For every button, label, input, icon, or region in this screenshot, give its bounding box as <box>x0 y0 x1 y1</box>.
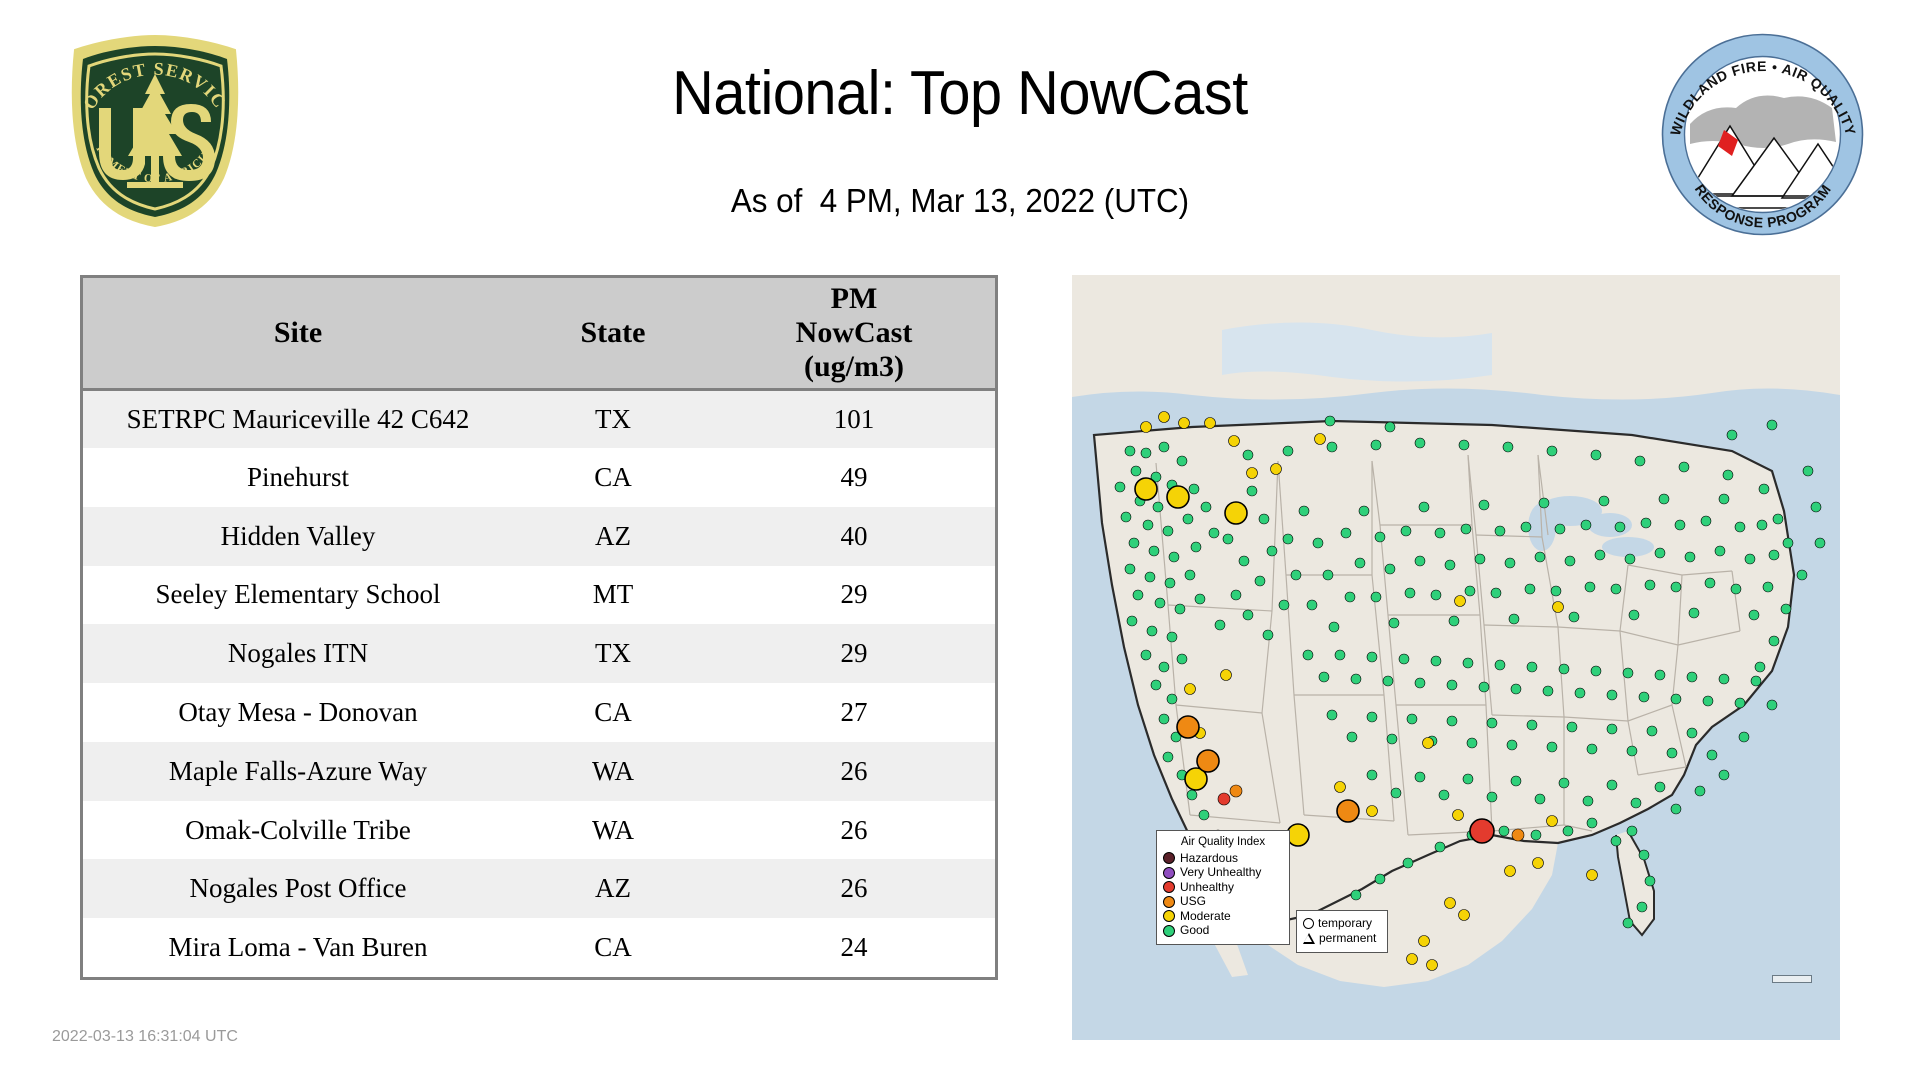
wildland-fire-air-quality-icon: WILDLAND FIRE • AIR QUALITY RESPONSE PRO… <box>1660 32 1865 237</box>
table-cell-state: CA <box>513 448 713 507</box>
aqi-swatch-icon <box>1163 910 1175 922</box>
table-row: Hidden ValleyAZ40 <box>83 507 995 566</box>
slide-root: FOREST SERVICE DEPARTMENT OF AGRICULTURE <box>0 0 1920 1080</box>
table-row: Maple Falls-Azure WayWA26 <box>83 742 995 801</box>
aqi-legend-row: Moderate <box>1163 909 1283 924</box>
table-cell-site: Nogales ITN <box>83 624 513 683</box>
column-header-line1: PM <box>831 282 878 315</box>
aqi-legend-label: Unhealthy <box>1180 881 1234 894</box>
temporary-monitor-icon <box>1303 918 1314 929</box>
table-row: Otay Mesa - DonovanCA27 <box>83 683 995 742</box>
table-cell-value: 26 <box>713 742 995 801</box>
table-cell-site: Nogales Post Office <box>83 859 513 918</box>
page-title: National: Top NowCast <box>346 58 1574 129</box>
aqi-swatch-icon <box>1163 896 1175 908</box>
aqi-legend-label: USG <box>1180 895 1206 908</box>
aqi-legend: Air Quality Index HazardousVery Unhealth… <box>1156 830 1290 945</box>
table-row: Nogales ITNTX29 <box>83 624 995 683</box>
monitor-type-legend: temporary permanent <box>1296 910 1388 953</box>
table-row: SETRPC Mauriceville 42 C642TX101 <box>83 389 995 448</box>
aqi-legend-row: Very Unhealthy <box>1163 866 1283 881</box>
map-scale-bar <box>1772 975 1812 983</box>
aqi-legend-row: Good <box>1163 924 1283 939</box>
aqi-swatch-icon <box>1163 852 1175 864</box>
aqi-legend-row: Hazardous <box>1163 851 1283 866</box>
table-cell-value: 29 <box>713 624 995 683</box>
table-cell-site: Pinehurst <box>83 448 513 507</box>
column-header-site: Site <box>83 278 513 389</box>
column-header-state: State <box>513 278 713 389</box>
legend-row-temporary: temporary <box>1303 916 1382 931</box>
legend-row-permanent: permanent <box>1303 931 1382 946</box>
table-cell-state: WA <box>513 801 713 860</box>
table-cell-value: 40 <box>713 507 995 566</box>
column-header-line2: NowCast <box>796 316 913 349</box>
table-cell-site: Mira Loma - Van Buren <box>83 918 513 977</box>
aqi-swatch-icon <box>1163 925 1175 937</box>
table-row: Nogales Post OfficeAZ26 <box>83 859 995 918</box>
page-subtitle: As of 4 PM, Mar 13, 2022 (UTC) <box>333 182 1587 220</box>
column-header-line3: (ug/m3) <box>804 350 904 383</box>
table-cell-value: 49 <box>713 448 995 507</box>
aqi-legend-row: USG <box>1163 895 1283 910</box>
table-cell-value: 26 <box>713 801 995 860</box>
table-row: PinehurstCA49 <box>83 448 995 507</box>
table-cell-state: TX <box>513 389 713 448</box>
table-cell-value: 29 <box>713 566 995 625</box>
table-cell-value: 27 <box>713 683 995 742</box>
table-cell-state: MT <box>513 566 713 625</box>
table-row: Seeley Elementary SchoolMT29 <box>83 566 995 625</box>
aqi-swatch-icon <box>1163 881 1175 893</box>
table-cell-state: TX <box>513 624 713 683</box>
table-cell-state: CA <box>513 918 713 977</box>
table-cell-state: AZ <box>513 507 713 566</box>
permanent-monitor-icon <box>1303 933 1315 944</box>
legend-label-permanent: permanent <box>1319 932 1376 945</box>
table-header-row: Site State PM NowCast (ug/m3) <box>83 278 995 389</box>
aqi-legend-label: Very Unhealthy <box>1180 866 1261 879</box>
table-cell-site: Maple Falls-Azure Way <box>83 742 513 801</box>
table-row: Omak-Colville TribeWA26 <box>83 801 995 860</box>
table-cell-state: WA <box>513 742 713 801</box>
column-header-pm-nowcast: PM NowCast (ug/m3) <box>713 278 995 389</box>
table-cell-state: CA <box>513 683 713 742</box>
aqi-legend-rows: HazardousVery UnhealthyUnhealthyUSGModer… <box>1163 851 1283 938</box>
aqi-legend-label: Moderate <box>1180 910 1231 923</box>
aqi-legend-title: Air Quality Index <box>1163 836 1283 848</box>
table-cell-site: Omak-Colville Tribe <box>83 801 513 860</box>
legend-label-temporary: temporary <box>1318 917 1372 930</box>
table-row: Mira Loma - Van BurenCA24 <box>83 918 995 977</box>
table-cell-value: 26 <box>713 859 995 918</box>
footer-timestamp: 2022-03-13 16:31:04 UTC <box>52 1028 238 1046</box>
table-cell-value: 24 <box>713 918 995 977</box>
aqi-swatch-icon <box>1163 867 1175 879</box>
table-cell-site: SETRPC Mauriceville 42 C642 <box>83 389 513 448</box>
top-nowcast-table: Site State PM NowCast (ug/m3) SETRPC Mau… <box>80 275 998 980</box>
aqi-legend-label: Hazardous <box>1180 852 1238 865</box>
national-monitor-map[interactable]: Air Quality Index HazardousVery Unhealth… <box>1072 275 1840 1040</box>
table-cell-site: Seeley Elementary School <box>83 566 513 625</box>
table-body: SETRPC Mauriceville 42 C642TX101Pinehurs… <box>83 389 995 977</box>
aqi-legend-label: Good <box>1180 924 1209 937</box>
table-cell-site: Hidden Valley <box>83 507 513 566</box>
table-cell-value: 101 <box>713 389 995 448</box>
aqi-legend-row: Unhealthy <box>1163 880 1283 895</box>
table-cell-site: Otay Mesa - Donovan <box>83 683 513 742</box>
forest-service-shield-icon: FOREST SERVICE DEPARTMENT OF AGRICULTURE <box>55 30 255 230</box>
table-cell-state: AZ <box>513 859 713 918</box>
